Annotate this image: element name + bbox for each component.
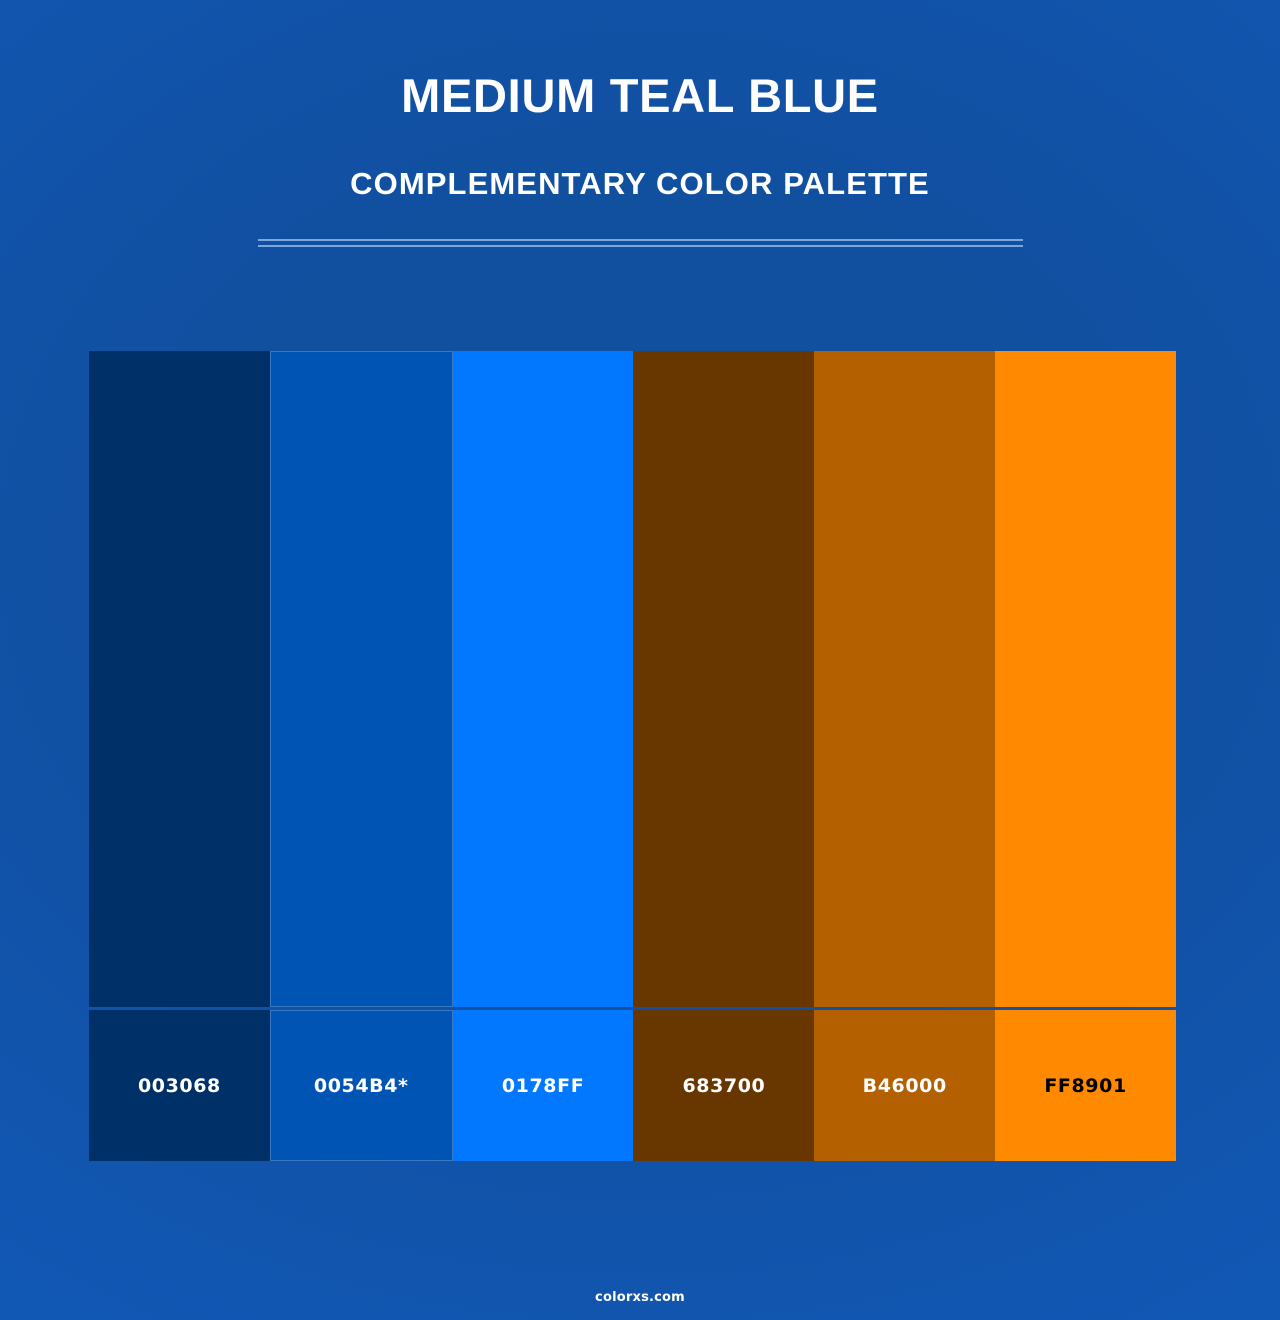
color-hex-label: 683700 [682, 1075, 765, 1097]
color-swatch-label-cell[interactable]: FF8901 [995, 1010, 1176, 1161]
color-swatch-label-cell[interactable]: 0178FF [453, 1010, 634, 1161]
color-swatch[interactable] [633, 351, 814, 1007]
color-hex-label: B46000 [863, 1075, 947, 1097]
color-swatch[interactable] [89, 351, 270, 1007]
swatch-row [89, 351, 1176, 1007]
page-title: MEDIUM TEAL BLUE [0, 72, 1280, 119]
page-subtitle: COMPLEMENTARY COLOR PALETTE [0, 119, 1280, 199]
color-hex-label: 003068 [138, 1075, 221, 1097]
swatch-label-row: 0030680054B4*0178FF683700B46000FF8901 [89, 1010, 1176, 1161]
color-palette-page: MEDIUM TEAL BLUE COMPLEMENTARY COLOR PAL… [0, 0, 1280, 1320]
site-credit: colorxs.com [595, 1290, 685, 1305]
color-swatch[interactable] [995, 351, 1176, 1007]
color-swatch-label-cell[interactable]: 0054B4* [270, 1010, 453, 1161]
color-hex-label: FF8901 [1044, 1075, 1126, 1097]
color-swatch-label-cell[interactable]: 683700 [633, 1010, 814, 1161]
color-swatch[interactable] [270, 351, 453, 1007]
color-swatch[interactable] [814, 351, 995, 1007]
color-hex-label: 0178FF [502, 1075, 584, 1097]
divider-line-bottom [258, 245, 1023, 247]
title-divider [258, 239, 1023, 248]
color-swatch[interactable] [453, 351, 634, 1007]
palette: 0030680054B4*0178FF683700B46000FF8901 [89, 351, 1176, 1161]
divider-line-top [258, 239, 1023, 241]
footer: colorxs.com [0, 1286, 1280, 1305]
color-swatch-label-cell[interactable]: B46000 [814, 1010, 995, 1161]
color-hex-label: 0054B4* [314, 1075, 409, 1097]
header: MEDIUM TEAL BLUE COMPLEMENTARY COLOR PAL… [0, 0, 1280, 248]
color-swatch-label-cell[interactable]: 003068 [89, 1010, 270, 1161]
